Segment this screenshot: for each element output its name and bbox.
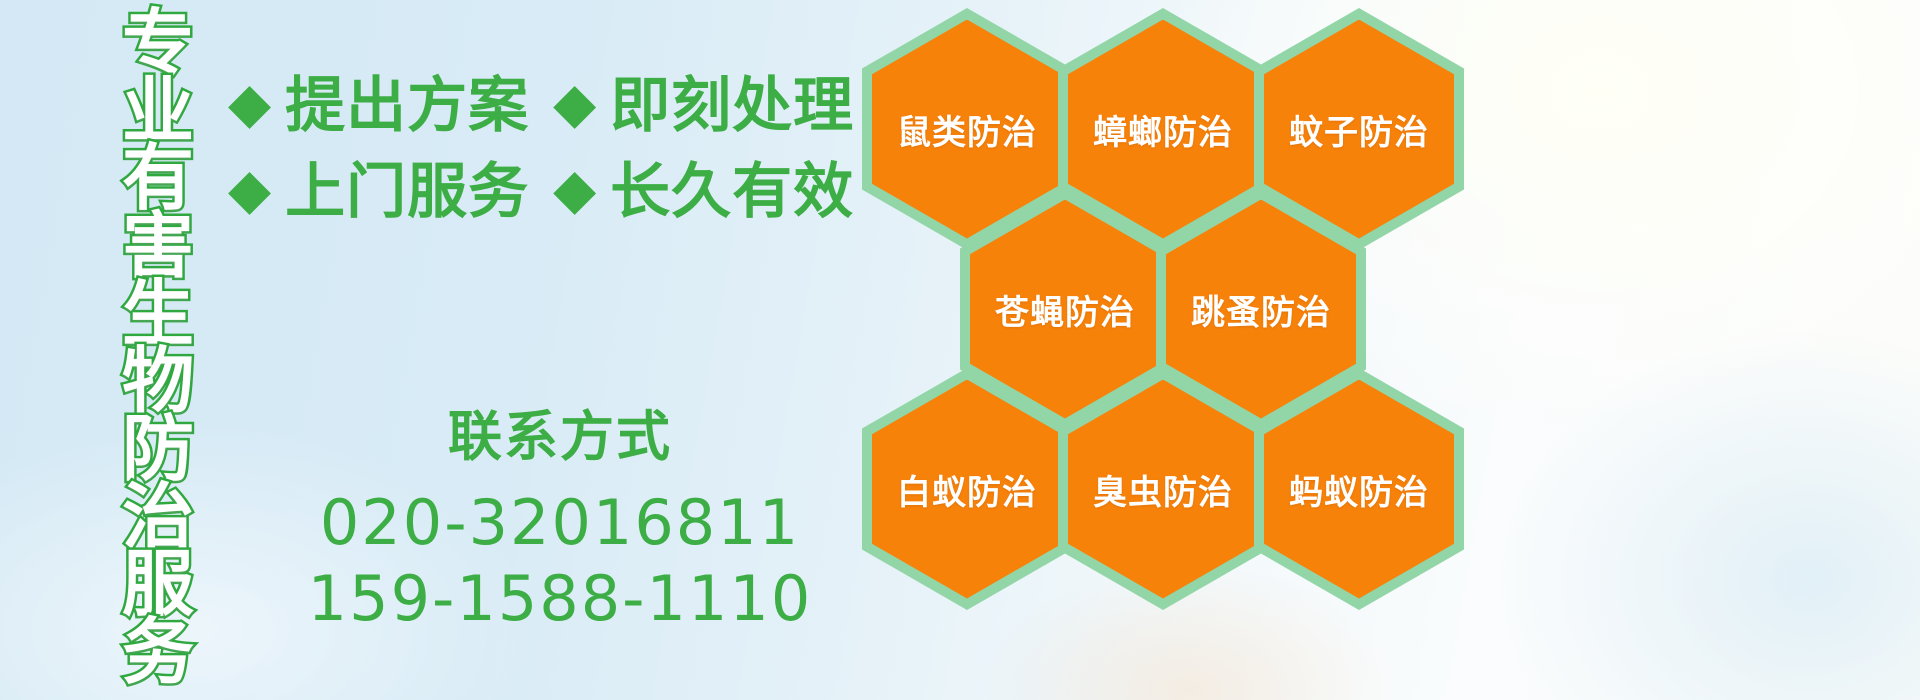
feature-item-propose-plan: ◆ 提出方案 <box>228 76 553 136</box>
vertical-headline-char: 防 <box>122 416 194 484</box>
vertical-headline-char: 业 <box>122 78 194 146</box>
vertical-headline-char: 服 <box>122 551 194 619</box>
diamond-bullet-icon: ◆ <box>553 162 596 218</box>
pest-control-banner: 专 业 有 害 生 物 防 治 服 务 ◆ 提出方案 ◆ 即刻处理 ◆ 上门服务 <box>0 0 1920 700</box>
diamond-bullet-icon: ◆ <box>228 76 271 132</box>
service-label: 跳蚤防治 <box>1191 285 1331 334</box>
hex-inner: 蟑螂防治 <box>1068 20 1258 239</box>
service-label: 臭虫防治 <box>1093 465 1233 514</box>
feature-item-door-to-door-service: ◆ 上门服务 <box>228 162 553 222</box>
hex-inner: 跳蚤防治 <box>1166 200 1356 419</box>
diamond-bullet-icon: ◆ <box>553 76 596 132</box>
service-label: 苍蝇防治 <box>995 285 1135 334</box>
contact-title: 联系方式 <box>240 392 880 471</box>
vertical-headline-char: 务 <box>122 619 194 687</box>
feature-list: ◆ 提出方案 ◆ 即刻处理 ◆ 上门服务 ◆ 长久有效 <box>228 76 868 248</box>
hex-inner: 苍蝇防治 <box>970 200 1160 419</box>
service-label: 蟑螂防治 <box>1093 105 1233 154</box>
hex-inner: 白蚁防治 <box>872 380 1062 599</box>
service-label: 蚊子防治 <box>1289 105 1429 154</box>
hex-inner: 蚂蚁防治 <box>1264 380 1454 599</box>
vertical-headline-char: 专 <box>122 10 194 78</box>
hex-inner: 鼠类防治 <box>872 20 1062 239</box>
vertical-headline-char: 有 <box>122 145 194 213</box>
contact-phone-landline[interactable]: 020-32016811 <box>240 485 880 561</box>
service-label: 白蚁防治 <box>897 465 1037 514</box>
service-honeycomb: 鼠类防治 蟑螂防治 蚊子防治 苍蝇防治 跳蚤防治 白蚁防治 <box>862 0 1920 700</box>
service-label: 蚂蚁防治 <box>1289 465 1429 514</box>
diamond-bullet-icon: ◆ <box>228 162 271 218</box>
hex-inner: 蚊子防治 <box>1264 20 1454 239</box>
hex-inner: 臭虫防治 <box>1068 380 1258 599</box>
service-label: 鼠类防治 <box>897 105 1037 154</box>
feature-row: ◆ 提出方案 ◆ 即刻处理 <box>228 76 868 136</box>
vertical-headline-char: 物 <box>122 348 194 416</box>
vertical-headline-char: 治 <box>122 484 194 552</box>
feature-item-immediate-handling: ◆ 即刻处理 <box>553 76 878 136</box>
feature-item-long-lasting-effect: ◆ 长久有效 <box>553 162 878 222</box>
feature-label: 长久有效 <box>610 162 854 222</box>
feature-row: ◆ 上门服务 ◆ 长久有效 <box>228 162 868 222</box>
contact-block: 联系方式 020-32016811 159-1588-1110 <box>240 392 880 636</box>
vertical-headline-char: 害 <box>122 213 194 281</box>
contact-phone-mobile[interactable]: 159-1588-1110 <box>240 561 880 637</box>
feature-label: 上门服务 <box>285 162 529 222</box>
feature-label: 即刻处理 <box>610 76 854 136</box>
vertical-headline-char: 生 <box>122 281 194 349</box>
feature-label: 提出方案 <box>285 76 529 136</box>
vertical-headline: 专 业 有 害 生 物 防 治 服 务 <box>112 10 204 687</box>
